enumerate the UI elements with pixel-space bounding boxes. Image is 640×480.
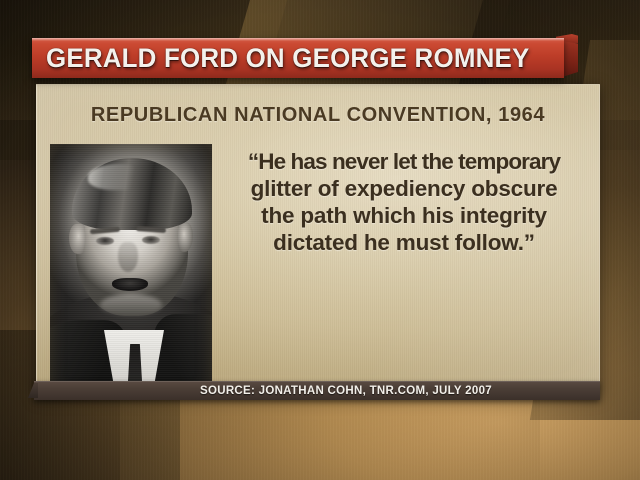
quote-line: the path which his integrity (226, 202, 582, 229)
quote-line: glitter of expediency obscure (226, 175, 582, 202)
photo-edge-fade (50, 144, 212, 395)
broadcast-graphic-stage: GERALD FORD ON GEORGE ROMNEY REPUBLICAN … (0, 0, 640, 480)
page-title: GERALD FORD ON GEORGE ROMNEY (46, 38, 538, 78)
source-attribution-text: SOURCE: JONATHAN COHN, TNR.COM, JULY 200… (200, 385, 492, 397)
quote-line: dictated he must follow.” (226, 229, 582, 256)
source-attribution-bar: SOURCE: JONATHAN COHN, TNR.COM, JULY 200… (34, 381, 600, 400)
quote-line: “He has never let the temporary (226, 148, 582, 175)
title-banner: GERALD FORD ON GEORGE ROMNEY (32, 38, 564, 78)
quote-text: “He has never let the temporary glitter … (226, 148, 582, 256)
george-romney-portrait-photo (50, 144, 212, 395)
banner-fold-tab (562, 41, 578, 77)
subtitle-event-label: REPUBLICAN NATIONAL CONVENTION, 1964 (36, 104, 600, 127)
